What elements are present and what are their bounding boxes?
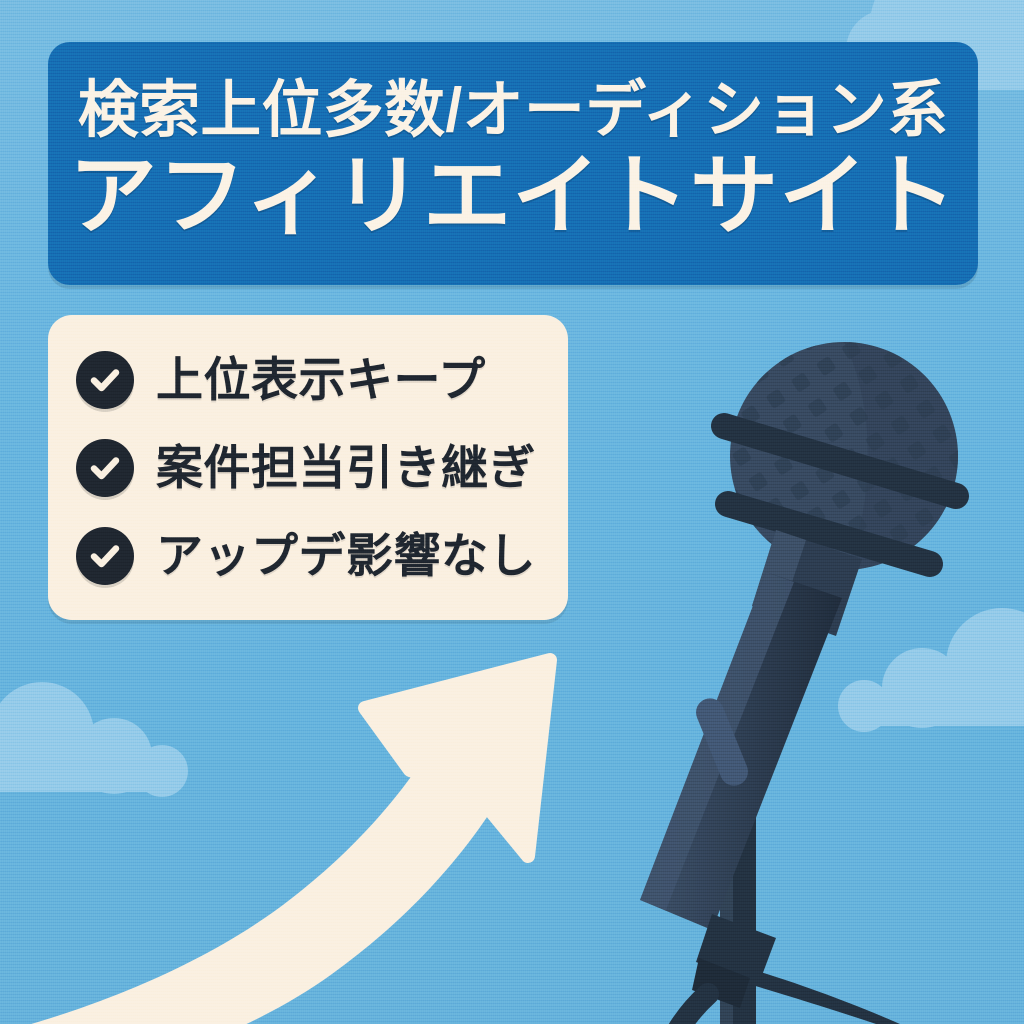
check-circle-icon: [76, 351, 134, 409]
checklist-item-label: アップデ影響なし: [156, 532, 536, 579]
banner-headline-line-2: アフィリエイトサイト: [69, 152, 957, 240]
banner-headline-line-1: 検索上位多数/オーディション系: [78, 80, 949, 142]
checklist-item: アップデ影響なし: [76, 521, 542, 591]
checklist-card: 上位表示キープ 案件担当引き継ぎ アップデ影響なし: [48, 315, 568, 620]
promo-graphic-canvas: 検索上位多数/オーディション系 アフィリエイトサイト 上位表示キープ 案件担当引…: [0, 0, 1024, 1024]
check-circle-icon: [76, 439, 134, 497]
checklist-item-label: 案件担当引き継ぎ: [156, 444, 536, 491]
checklist-item: 案件担当引き継ぎ: [76, 433, 542, 503]
checklist-item-label: 上位表示キープ: [156, 356, 486, 403]
header-banner: 検索上位多数/オーディション系 アフィリエイトサイト: [48, 42, 978, 285]
check-circle-icon: [76, 527, 134, 585]
checklist-item: 上位表示キープ: [76, 345, 542, 415]
